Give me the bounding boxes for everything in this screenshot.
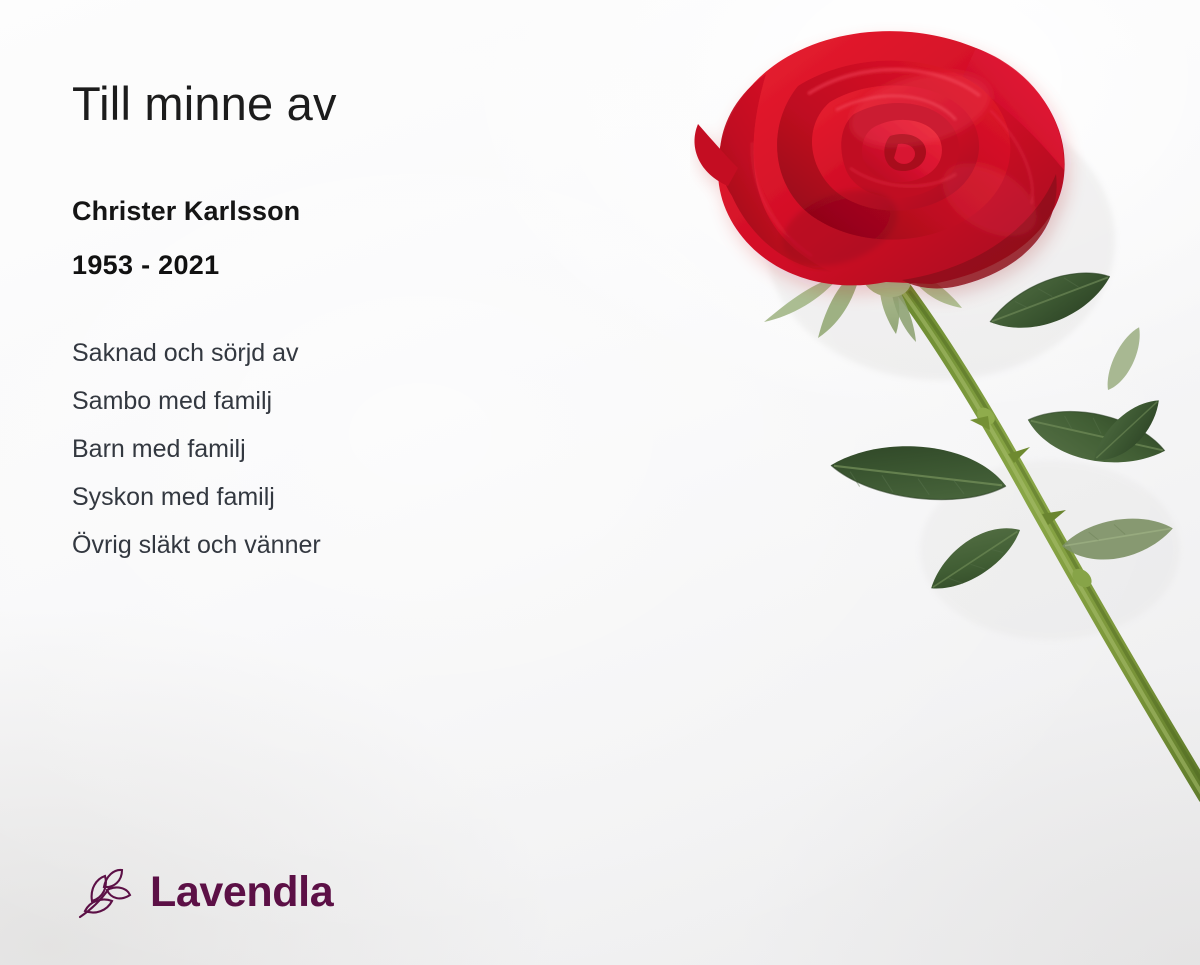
deceased-dates: 1953 - 2021 <box>72 252 337 279</box>
list-item: Sambo med familj <box>72 389 337 414</box>
leaf-sprig-icon <box>74 861 136 923</box>
lavendla-wordmark: Lavendla <box>150 871 333 914</box>
list-item: Saknad och sörjd av <box>72 341 337 366</box>
rose-photograph <box>690 0 1200 890</box>
deceased-details: Christer Karlsson 1953 - 2021 <box>72 198 337 279</box>
mourners-list: Saknad och sörjd av Sambo med familj Bar… <box>72 341 337 558</box>
memorial-card: Till minne av Christer Karlsson 1953 - 2… <box>0 0 1200 965</box>
list-item: Barn med familj <box>72 437 337 462</box>
rose-bloom <box>695 31 1065 288</box>
lavendla-logo: Lavendla <box>74 861 333 923</box>
list-item: Övrig släkt och vänner <box>72 533 337 558</box>
page-title: Till minne av <box>72 78 337 130</box>
memorial-text-block: Till minne av Christer Karlsson 1953 - 2… <box>72 78 337 558</box>
deceased-name: Christer Karlsson <box>72 198 337 225</box>
list-item: Syskon med familj <box>72 485 337 510</box>
